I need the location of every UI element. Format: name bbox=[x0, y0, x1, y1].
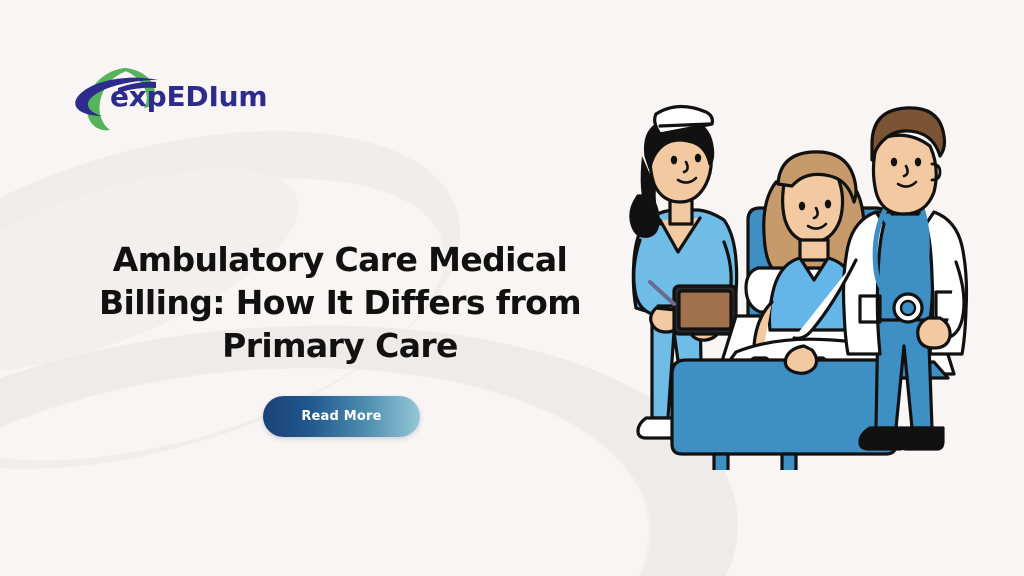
healthcare-scene-illustration bbox=[616, 100, 1006, 470]
brand-logo[interactable]: expEDIum bbox=[58, 58, 248, 134]
page-title: Ambulatory Care Medical Billing: How It … bbox=[60, 238, 620, 368]
logo-wordmark: expEDIum bbox=[110, 80, 267, 113]
marketing-banner: expEDIum Ambulatory Care Medical Billing… bbox=[0, 0, 1024, 576]
read-more-button[interactable]: Read More bbox=[263, 396, 420, 437]
hero-illustration bbox=[616, 100, 1006, 470]
